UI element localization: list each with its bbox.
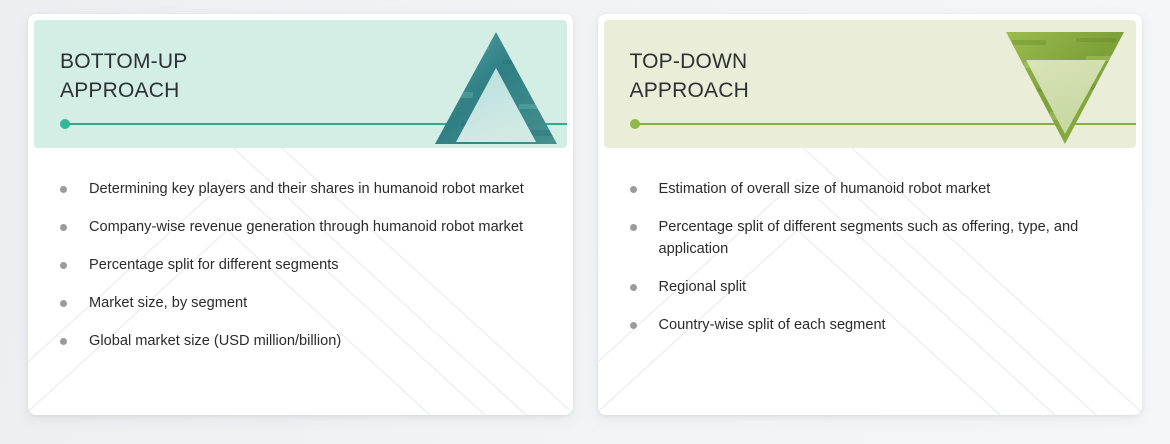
bottom-up-bullet-list: Determining key players and their shares… <box>58 178 543 352</box>
list-item-label: Percentage split of different segments s… <box>659 219 1079 257</box>
list-item-label: Country-wise split of each segment <box>659 317 886 333</box>
list-item-label: Percentage split for different segments <box>89 257 339 273</box>
bullet-dot-icon <box>60 224 67 231</box>
bottom-up-header: BOTTOM-UP APPROACH <box>34 20 567 148</box>
list-item-label: Regional split <box>659 279 747 295</box>
top-down-bullet-list: Estimation of overall size of humanoid r… <box>628 178 1113 336</box>
list-item: Company-wise revenue generation through … <box>58 216 541 238</box>
bullet-dot-icon <box>630 186 637 193</box>
triangle-down-icon <box>1002 26 1128 148</box>
list-item: Determining key players and their shares… <box>58 178 541 200</box>
list-item-label: Estimation of overall size of humanoid r… <box>659 181 991 197</box>
bullet-dot-icon <box>60 186 67 193</box>
triangle-up-icon <box>433 26 559 148</box>
bottom-up-body: Determining key players and their shares… <box>28 148 573 415</box>
list-item: Percentage split for different segments <box>58 254 541 276</box>
list-item: Percentage split of different segments s… <box>628 216 1113 260</box>
top-down-body: Estimation of overall size of humanoid r… <box>598 148 1143 415</box>
top-down-approach-card: TOP-DOWN APPROACH <box>598 14 1143 415</box>
bullet-dot-icon <box>60 300 67 307</box>
bullet-dot-icon <box>630 284 637 291</box>
list-item-label: Market size, by segment <box>89 295 247 311</box>
list-item: Country-wise split of each segment <box>628 314 1113 336</box>
list-item: Estimation of overall size of humanoid r… <box>628 178 1113 200</box>
bullet-dot-icon <box>630 224 637 231</box>
top-down-title: TOP-DOWN APPROACH <box>630 47 749 105</box>
list-item: Global market size (USD million/billion) <box>58 330 541 352</box>
list-item-label: Global market size (USD million/billion) <box>89 333 341 349</box>
list-item-label: Company-wise revenue generation through … <box>89 219 523 235</box>
bullet-dot-icon <box>630 322 637 329</box>
bullet-dot-icon <box>60 338 67 345</box>
bottom-up-approach-card: BOTTOM-UP APPROACH <box>28 14 573 415</box>
list-item: Market size, by segment <box>58 292 541 314</box>
bottom-up-title: BOTTOM-UP APPROACH <box>60 47 187 105</box>
list-item-label: Determining key players and their shares… <box>89 181 524 197</box>
top-down-header: TOP-DOWN APPROACH <box>604 20 1137 148</box>
approach-comparison-panel: BOTTOM-UP APPROACH <box>0 0 1170 444</box>
list-item: Regional split <box>628 276 1113 298</box>
bullet-dot-icon <box>60 262 67 269</box>
